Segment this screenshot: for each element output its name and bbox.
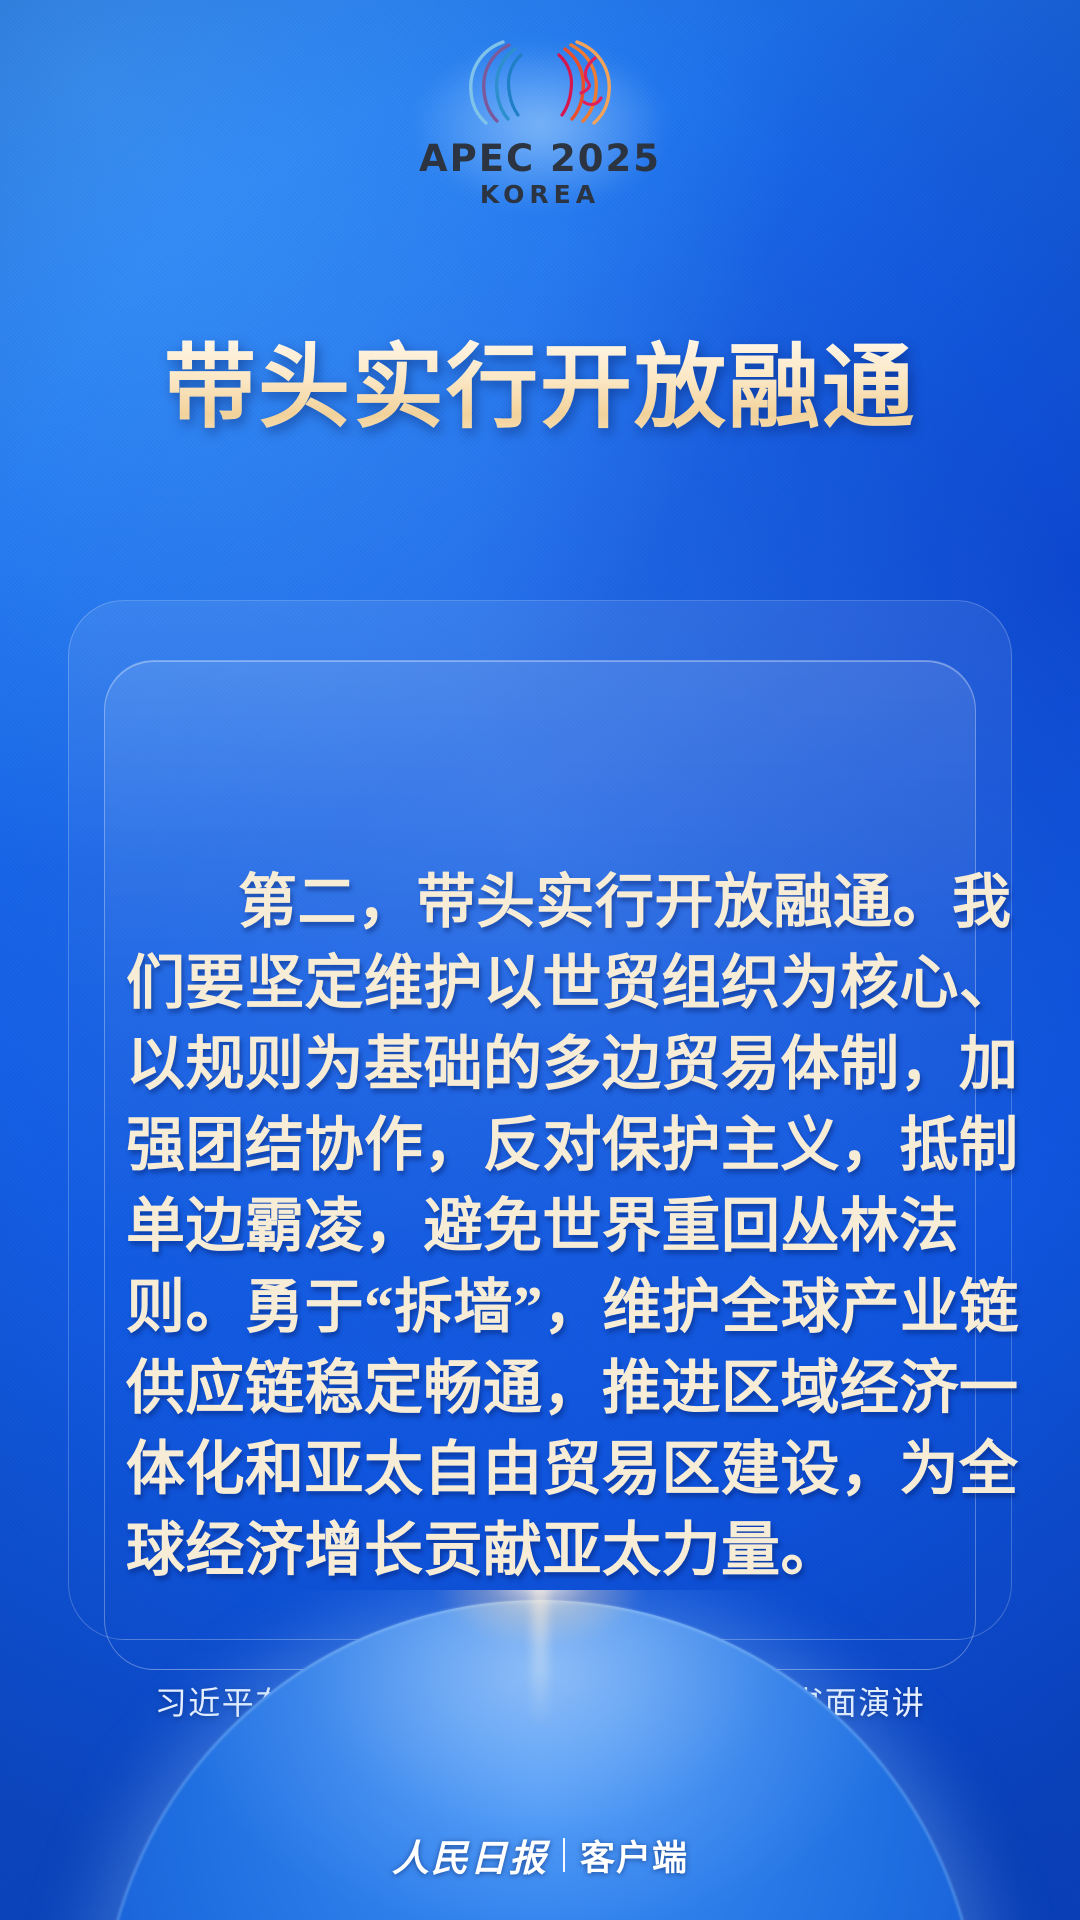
apec-logo-block: APEC 2025 KOREA (0, 28, 1080, 210)
speech-line: 单边霸凌，避免世界重回丛林法 (126, 1186, 954, 1267)
poster-canvas: APEC 2025 KOREA 带头实行开放融通 第二，带头实行开放融通。我 们… (0, 0, 1080, 1920)
brand-divider (563, 1838, 565, 1872)
app-name-label: 客户端 (580, 1830, 688, 1881)
apec-wordmark-line1: APEC 2025 (419, 139, 661, 179)
speech-line: 们要坚定维护以世贸组织为核心、 (126, 943, 954, 1024)
apec-wordmark: APEC 2025 KOREA (419, 139, 661, 210)
speech-line: 以规则为基础的多边贸易体制，加 (126, 1024, 954, 1105)
speech-line: 供应链稳定畅通，推进区域经济一 (126, 1348, 954, 1429)
apec-wordmark-line2: KOREA (419, 180, 661, 210)
apec-faces-logo (445, 28, 635, 133)
speech-line: 第二，带头实行开放融通。我 (126, 862, 954, 943)
speech-line: 体化和亚太自由贸易区建设，为全 (126, 1429, 954, 1510)
peoples-daily-logo: 人民日报 (392, 1828, 548, 1882)
speech-line: 强团结协作，反对保护主义，抵制 (126, 1105, 954, 1186)
speech-body: 第二，带头实行开放融通。我 们要坚定维护以世贸组织为核心、 以规则为基础的多边贸… (126, 862, 954, 1591)
page-title: 带头实行开放融通 (0, 336, 1080, 440)
publisher-brand[interactable]: 人民日报 客户端 (0, 1828, 1080, 1882)
earth-sun-flare (390, 1590, 690, 1674)
speech-line: 则。勇于“拆墙”，维护全球产业链 (126, 1267, 954, 1348)
speech-line: 球经济增长贡献亚太力量。 (126, 1510, 954, 1591)
